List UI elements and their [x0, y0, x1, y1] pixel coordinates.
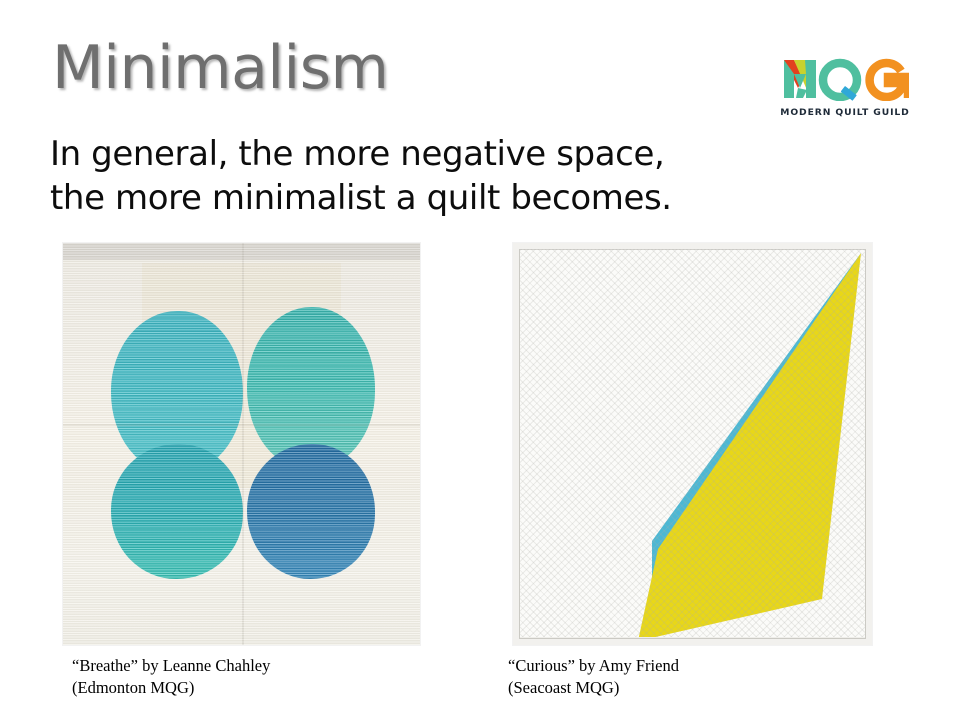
slide-body-text: In general, the more negative space, the…: [50, 133, 880, 220]
mqg-logo-caption: MODERN QUILT GUILD: [779, 107, 911, 118]
body-line-1: In general, the more negative space,: [50, 133, 880, 177]
circle-weave-shade: [111, 444, 243, 579]
caption-guild-line: (Edmonton MQG): [72, 677, 270, 699]
mqg-logo: MODERN QUILT GUILD: [779, 57, 911, 129]
page-title: Minimalism: [52, 38, 388, 98]
quilt-seam-vertical: [242, 243, 244, 645]
body-line-2: the more minimalist a quilt becomes.: [50, 177, 880, 221]
curious-quilt-shapes: [520, 249, 865, 637]
quilt-white-field: [520, 249, 865, 637]
yellow-parallelogram: [638, 253, 861, 637]
circle-bottom-left: [111, 444, 243, 579]
breathe-caption: “Breathe” by Leanne Chahley (Edmonton MQ…: [72, 655, 270, 699]
breathe-quilt-image: [63, 243, 420, 645]
circle-weave-shade: [247, 444, 376, 579]
curious-quilt-image: [513, 243, 872, 645]
caption-guild-line: (Seacoast MQG): [508, 677, 679, 699]
circle-bottom-right: [247, 444, 376, 579]
caption-title-line: “Breathe” by Leanne Chahley: [72, 655, 270, 677]
caption-title-line: “Curious” by Amy Friend: [508, 655, 679, 677]
curious-caption: “Curious” by Amy Friend (Seacoast MQG): [508, 655, 679, 699]
mqg-logo-mark: [783, 57, 909, 101]
quilt-seam-horizontal: [63, 424, 420, 426]
